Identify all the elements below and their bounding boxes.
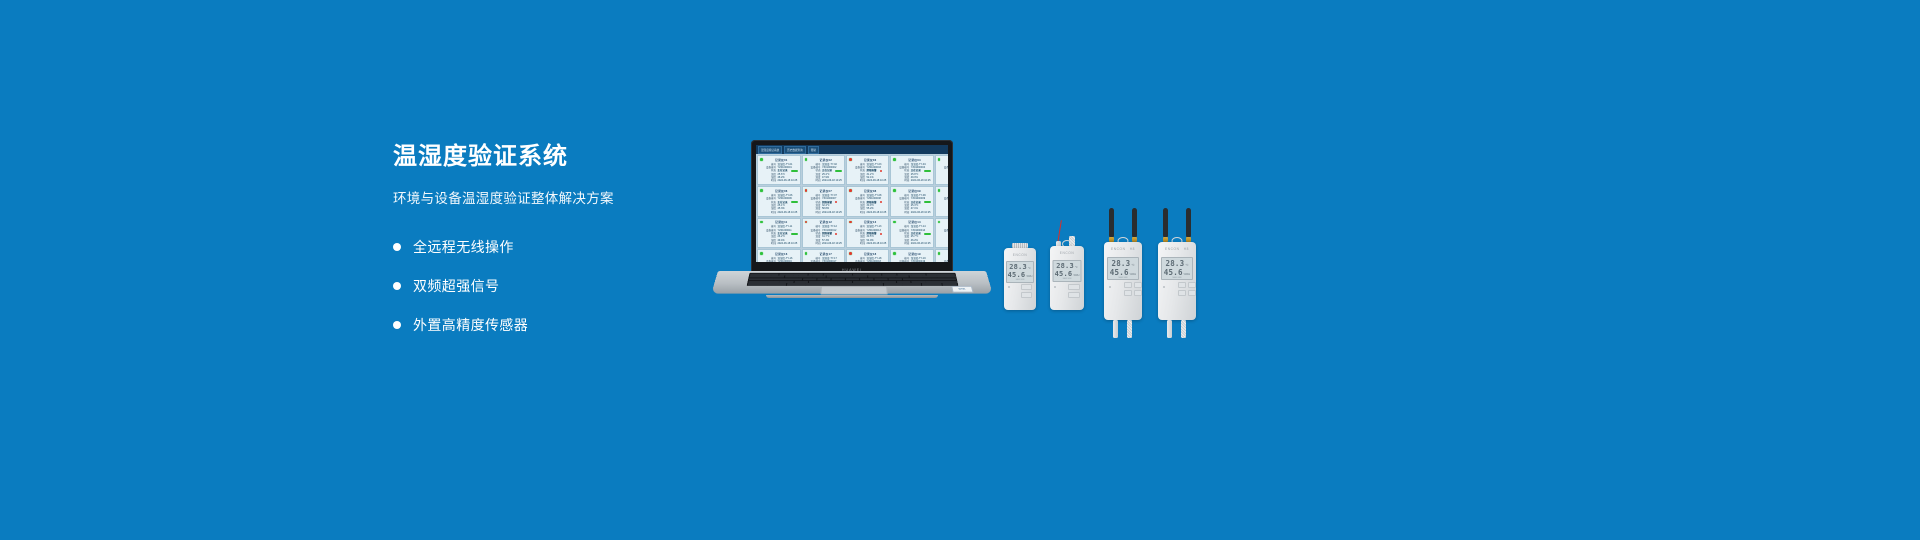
- temperature-reading: 28.3 ℃: [1110, 259, 1136, 268]
- sensor-card-title: 记录仪01: [765, 158, 798, 162]
- temperature-reading: 28.3 ℃: [1056, 262, 1079, 270]
- sensor-card-title: 记录仪06: [765, 189, 798, 193]
- field-label: 时间: [810, 242, 821, 245]
- keyboard-key[interactable]: [902, 283, 921, 285]
- field-label: 时间: [810, 179, 821, 182]
- temperature-value: 28.3: [1056, 262, 1074, 270]
- sensor-card[interactable]: 记录仪11编号温湿度-TY-11设备编号YZ01000011状态正在记录温度26…: [757, 218, 801, 248]
- data-logger[interactable]: ENCON 28.3 ℃ 45.6 %RH MAX MIN: [1004, 248, 1036, 310]
- sensor-card[interactable]: 记录仪09编号温湿度-TY-09设备编号YZ01000009状态正在记录温度25…: [890, 186, 934, 216]
- status-led-icon: [760, 221, 763, 224]
- lcd-footer: MAX MIN: [1056, 278, 1079, 280]
- status-led-icon: [1109, 286, 1111, 288]
- temperature-unit: ℃: [1131, 263, 1134, 267]
- sensor-card[interactable]: 记录仪01编号温湿度-TY-01设备编号YZ01000001状态正在记录温度25…: [757, 155, 801, 185]
- tab-help[interactable]: 帮助: [808, 146, 819, 154]
- sensor-field-time: 时间2024-06-18 10:25: [810, 242, 843, 245]
- temperature-reading: 28.3 ℃: [1009, 263, 1031, 271]
- status-led-icon: [849, 221, 852, 224]
- field-label: 时间: [854, 211, 865, 214]
- humidity-unit: %RH: [1184, 272, 1191, 276]
- key-button[interactable]: [1188, 290, 1196, 296]
- humidity-reading: 45.6 %RH: [1164, 268, 1190, 277]
- status-led-icon: [938, 158, 941, 161]
- field-label: 时间: [810, 211, 821, 214]
- sensor-card[interactable]: 记录仪19编号温湿度-TY-19设备编号YZ01000019状态正在记录温度25…: [890, 249, 934, 262]
- spec-sticker: INTEL: [951, 286, 973, 293]
- antenna-icon: [1186, 208, 1191, 238]
- status-led-icon: [1008, 286, 1010, 288]
- laptop-product-image: 温湿度验证系统 历史数据查询 帮助 记录仪01编号温湿度-TY-01设备编号YZ…: [714, 140, 990, 300]
- key-button[interactable]: [1134, 290, 1142, 296]
- sensor-field-time: 时间2024-06-18 10:25: [898, 242, 931, 245]
- bullet-dot-icon: [393, 243, 401, 251]
- field-label: 时间: [854, 179, 865, 182]
- bullet-dot-icon: [393, 282, 401, 290]
- keyboard-key[interactable]: [921, 283, 941, 285]
- field-value: 2024-06-18 10:25: [822, 242, 842, 245]
- field-value: 2024-06-18 10:25: [822, 211, 842, 214]
- humidity-value: 45.6: [1055, 270, 1073, 278]
- sensor-field-time: 时间2024-06-18 10:25: [810, 179, 843, 182]
- lcd-display: 28.3 ℃ 45.6 %RH MAX MIN: [1006, 261, 1034, 283]
- status-led-icon: [849, 189, 852, 192]
- list-item: 双频超强信号: [393, 273, 723, 299]
- field-label: 时间: [765, 211, 776, 214]
- hero-copy: 温湿度验证系统 环境与设备温湿度验证整体解决方案 全远程无线操作 双频超强信号 …: [393, 142, 723, 351]
- tab-label: 温湿度验证系统: [761, 148, 779, 152]
- lcd-footer: MAX MIN: [1164, 277, 1190, 279]
- trackpad[interactable]: [820, 286, 887, 295]
- field-label: 时间: [943, 211, 948, 214]
- logger-brand-label: ENCON: [1111, 247, 1126, 251]
- humidity-reading: 45.6 %RH: [1110, 268, 1136, 277]
- lcd-display: 28.3 ℃ 45.6 %RH MAX MIN: [1161, 257, 1193, 280]
- logger-brand-label: ENCON: [1004, 253, 1036, 257]
- feature-label: 双频超强信号: [413, 277, 499, 295]
- status-led-icon: [893, 158, 896, 161]
- sensor-card[interactable]: 记录仪20编号温湿度-TY-20设备编号YZ01000020状态正在记录温度26…: [935, 249, 948, 262]
- key-button[interactable]: [1178, 290, 1186, 296]
- field-label: 时间: [765, 179, 776, 182]
- status-led-icon: [849, 252, 852, 255]
- key-button[interactable]: [1134, 282, 1142, 288]
- sensor-field-time: 时间2024-06-18 10:25: [943, 211, 948, 214]
- sensor-card-title: 记录仪11: [765, 220, 798, 224]
- sensor-field-time: 时间2024-06-18 10:25: [943, 179, 948, 182]
- sensor-field-time: 时间2024-06-18 10:25: [765, 179, 798, 182]
- sensor-card-grid: 记录仪01编号温湿度-TY-01设备编号YZ01000001状态正在记录温度25…: [756, 154, 948, 262]
- sensor-field-time: 时间2024-06-18 10:25: [810, 211, 843, 214]
- key-button[interactable]: [1124, 290, 1132, 296]
- sensor-card-title: 记录仪18: [854, 252, 886, 256]
- status-led-icon: [938, 189, 941, 192]
- status-led-icon: [893, 221, 896, 224]
- status-led-icon: [760, 158, 763, 161]
- lcd-footer: MAX MIN: [1009, 279, 1031, 281]
- status-led-icon: [760, 252, 763, 255]
- sensor-card-title: 记录仪09: [898, 189, 931, 193]
- feature-list: 全远程无线操作 双频超强信号 外置高精度传感器: [393, 234, 723, 338]
- humidity-unit: %RH: [1130, 272, 1137, 276]
- field-value: 2024-06-18 10:25: [822, 179, 842, 182]
- field-label: 时间: [943, 179, 948, 182]
- key-button[interactable]: [1124, 282, 1132, 288]
- sensor-card[interactable]: 记录仪07编号温湿度-TY-07设备编号YZ01000007状态超限报警温度32…: [802, 186, 846, 216]
- external-probe-icon: [1181, 320, 1186, 338]
- field-value: 2024-06-18 10:25: [867, 242, 887, 245]
- logger-brand-label: ENCON: [1050, 251, 1084, 255]
- sensor-card-title: 记录仪14: [898, 220, 931, 224]
- key-button[interactable]: [1068, 292, 1080, 298]
- key-button[interactable]: [1178, 282, 1186, 288]
- status-led-icon: [1163, 286, 1165, 288]
- keyboard-key[interactable]: [747, 283, 767, 285]
- laptop-base: INTEL: [714, 271, 990, 300]
- feature-label: 外置高精度传感器: [413, 316, 528, 334]
- sensor-card[interactable]: 记录仪08编号温湿度-TY-08设备编号YZ01000008状态超限报警温度30…: [846, 186, 889, 216]
- key-button[interactable]: [1068, 284, 1080, 290]
- lcd-footer: MAX MIN: [1110, 277, 1136, 279]
- keypad[interactable]: [1068, 284, 1080, 298]
- app-menu-bar: 温湿度验证系统 历史数据查询 帮助: [756, 145, 948, 154]
- feature-label: 全远程无线操作: [413, 238, 514, 256]
- sensor-card-title: 记录仪13: [854, 220, 886, 224]
- status-led-icon: [805, 158, 808, 161]
- humidity-unit: %RH: [1073, 274, 1079, 277]
- laptop-screen: 温湿度验证系统 历史数据查询 帮助 记录仪01编号温湿度-TY-01设备编号YZ…: [756, 145, 948, 262]
- external-probe-icon: [1113, 320, 1118, 338]
- logger-brand-label: ENCON: [1165, 247, 1180, 251]
- sensor-card[interactable]: 记录仪10编号温湿度-TY-10设备编号YZ01000010状态正在记录温度25…: [935, 186, 948, 216]
- sensor-card[interactable]: 记录仪15编号温湿度-TY-15设备编号YZ01000015状态正在记录温度25…: [935, 218, 948, 248]
- temperature-value: 28.3: [1111, 259, 1130, 268]
- sensor-card[interactable]: 记录仪12编号温湿度-TY-12设备编号YZ01000012状态超限报警温度31…: [802, 218, 846, 248]
- sensor-field-time: 时间2024-06-18 10:25: [898, 179, 931, 182]
- banner-stage: 温湿度验证系统 环境与设备温湿度验证整体解决方案 全远程无线操作 双频超强信号 …: [0, 0, 1920, 540]
- keyboard-key[interactable]: [787, 283, 806, 285]
- logger-model-label: H8: [1130, 247, 1135, 251]
- humidity-reading: 45.6 %RH: [1009, 271, 1031, 279]
- status-led-icon: [1054, 286, 1056, 288]
- sensor-card[interactable]: 记录仪18编号温湿度-TY-18设备编号YZ01000018状态超限报警温度31…: [846, 249, 889, 262]
- sensor-card[interactable]: 记录仪04编号温湿度-TY-04设备编号YZ01000004状态正在记录温度25…: [890, 155, 934, 185]
- field-label: 时间: [854, 242, 865, 245]
- data-logger[interactable]: ENCON 28.3 ℃ 45.6 %RH MAX MIN: [1050, 246, 1084, 310]
- logger-body: ENCON H8 28.3 ℃ 45.6 %RH MAX MIN: [1158, 242, 1196, 320]
- field-value: 2024-06-18 10:25: [911, 179, 931, 182]
- bullet-dot-icon: [393, 321, 401, 329]
- logger-brand-row: ENCON H8: [1104, 247, 1142, 251]
- sensor-card-title: 记录仪03: [854, 158, 886, 162]
- temperature-unit: ℃: [1075, 266, 1078, 269]
- lcd-display: 28.3 ℃ 45.6 %RH MAX MIN: [1053, 260, 1082, 282]
- temperature-unit: ℃: [1185, 263, 1188, 267]
- logger-brand-row: ENCON H8: [1158, 247, 1196, 251]
- antenna-icon: [1163, 208, 1168, 238]
- status-led-icon: [849, 158, 852, 161]
- page-title: 温湿度验证系统: [393, 142, 723, 172]
- sensor-card-title: 记录仪20: [943, 252, 948, 256]
- sensor-field-time: 时间2024-06-18 10:25: [943, 242, 948, 245]
- logger-body: ENCON 28.3 ℃ 45.6 %RH MAX MIN: [1004, 248, 1036, 310]
- sensor-card[interactable]: 记录仪05编号温湿度-TY-05设备编号YZ01000005状态正在记录温度26…: [935, 155, 948, 185]
- status-led-icon: [938, 221, 941, 224]
- status-led-icon: [805, 189, 808, 192]
- sensor-field-time: 时间2024-06-18 10:25: [765, 211, 798, 214]
- sensor-card[interactable]: 记录仪03编号温湿度-TY-03设备编号YZ01000003状态超限报警温度31…: [846, 155, 889, 185]
- field-label: 时间: [765, 242, 776, 245]
- list-item: 全远程无线操作: [393, 234, 723, 260]
- sensor-card-title: 记录仪07: [810, 189, 843, 193]
- lcd-display: 28.3 ℃ 45.6 %RH MAX MIN: [1107, 257, 1139, 280]
- data-logger-group: ENCON 28.3 ℃ 45.6 %RH MAX MIN: [1000, 180, 1220, 320]
- sensor-card-title: 记录仪19: [898, 252, 931, 256]
- status-led-icon: [893, 252, 896, 255]
- field-value: 2024-06-18 10:25: [778, 242, 798, 245]
- temperature-value: 28.3: [1165, 259, 1184, 268]
- keypad[interactable]: [1178, 282, 1196, 296]
- logger-body: ENCON H8 28.3 ℃ 45.6 %RH MAX MIN: [1104, 242, 1142, 320]
- sensor-card-title: 记录仪17: [810, 252, 843, 256]
- humidity-unit: %RH: [1026, 275, 1032, 278]
- sensor-card-title: 记录仪04: [898, 158, 931, 162]
- sensor-card-title: 记录仪15: [943, 220, 948, 224]
- sensor-card[interactable]: 记录仪17编号温湿度-TY-17设备编号YZ01000017状态正在记录温度25…: [802, 249, 846, 262]
- temperature-reading: 28.3 ℃: [1164, 259, 1190, 268]
- status-led-icon: [760, 189, 763, 192]
- humidity-value: 45.6: [1164, 268, 1183, 277]
- sensor-card[interactable]: 记录仪02编号温湿度-TY-02设备编号YZ01000002状态正在记录温度25…: [802, 155, 846, 185]
- data-logger[interactable]: ENCON H8 28.3 ℃ 45.6 %RH MAX MIN: [1158, 242, 1196, 320]
- tab-monitoring[interactable]: 温湿度验证系统: [758, 146, 782, 154]
- sensor-card-title: 记录仪12: [810, 220, 843, 224]
- antenna-icon: [1132, 208, 1137, 238]
- field-value: 2024-06-18 10:25: [778, 211, 798, 214]
- field-label: 时间: [898, 211, 909, 214]
- humidity-value: 45.6: [1110, 268, 1129, 277]
- status-led-icon: [938, 252, 941, 255]
- laptop-front-edge: [766, 295, 938, 298]
- sensor-field-time: 时间2024-06-18 10:25: [854, 242, 886, 245]
- sensor-field-time: 时间2024-06-18 10:25: [898, 211, 931, 214]
- sensor-field-time: 时间2024-06-18 10:25: [854, 179, 886, 182]
- field-value: 2024-06-18 10:25: [778, 179, 798, 182]
- field-label: 时间: [898, 179, 909, 182]
- logger-body: ENCON 28.3 ℃ 45.6 %RH MAX MIN: [1050, 246, 1084, 310]
- temperature-unit: ℃: [1028, 267, 1031, 270]
- tab-label: 历史数据查询: [787, 148, 803, 152]
- sensor-card-title: 记录仪05: [943, 158, 948, 162]
- sticker-label: INTEL: [958, 288, 966, 291]
- field-value: 2024-06-18 10:25: [867, 179, 887, 182]
- keyboard[interactable]: [747, 273, 959, 286]
- field-value: 2024-06-18 10:25: [911, 242, 931, 245]
- list-item: 外置高精度传感器: [393, 312, 723, 338]
- sensor-card[interactable]: 记录仪13编号温湿度-TY-13设备编号YZ01000013状态超限报警温度30…: [846, 218, 889, 248]
- field-label: 时间: [898, 242, 909, 245]
- temperature-value: 28.3: [1009, 263, 1027, 271]
- status-led-icon: [805, 221, 808, 224]
- keypad[interactable]: [1021, 284, 1032, 298]
- key-button[interactable]: [1021, 284, 1032, 290]
- status-led-icon: [893, 189, 896, 192]
- tab-history[interactable]: 历史数据查询: [784, 146, 806, 154]
- sensor-card[interactable]: 记录仪06编号温湿度-TY-06设备编号YZ01000006状态正在记录温度25…: [757, 186, 801, 216]
- field-label: 时间: [943, 242, 948, 245]
- antenna-icon: [1109, 208, 1114, 238]
- field-value: 2024-06-18 10:25: [911, 211, 931, 214]
- key-button[interactable]: [1021, 292, 1032, 298]
- hero-subtitle: 环境与设备温湿度验证整体解决方案: [393, 190, 723, 208]
- tab-label: 帮助: [811, 148, 816, 152]
- sensor-card[interactable]: 记录仪16编号温湿度-TY-16设备编号YZ01000016状态正在记录温度26…: [757, 249, 801, 262]
- logger-model-label: H8: [1184, 247, 1189, 251]
- keyboard-key[interactable]: [768, 283, 787, 285]
- humidity-value: 45.6: [1008, 271, 1026, 279]
- field-value: 2024-06-18 10:25: [867, 211, 887, 214]
- sensor-card-title: 记录仪16: [765, 252, 798, 256]
- external-probe-icon: [1167, 320, 1172, 338]
- sensor-card-title: 记录仪08: [854, 189, 886, 193]
- humidity-reading: 45.6 %RH: [1056, 270, 1079, 278]
- keypad[interactable]: [1124, 282, 1142, 296]
- external-probe-icon: [1127, 320, 1132, 338]
- laptop-deck: INTEL: [711, 271, 992, 294]
- sensor-field-time: 时间2024-06-18 10:25: [765, 242, 798, 245]
- status-led-icon: [805, 252, 808, 255]
- laptop-lid: 温湿度验证系统 历史数据查询 帮助 记录仪01编号温湿度-TY-01设备编号YZ…: [751, 140, 953, 277]
- data-logger[interactable]: ENCON H8 28.3 ℃ 45.6 %RH MAX MIN: [1104, 242, 1142, 320]
- sensor-card-title: 记录仪02: [810, 158, 843, 162]
- sensor-field-time: 时间2024-06-18 10:25: [854, 211, 886, 214]
- sensor-card-title: 记录仪10: [943, 189, 948, 193]
- key-button[interactable]: [1188, 282, 1196, 288]
- sensor-card[interactable]: 记录仪14编号温湿度-TY-14设备编号YZ01000014状态正在记录温度25…: [890, 218, 934, 248]
